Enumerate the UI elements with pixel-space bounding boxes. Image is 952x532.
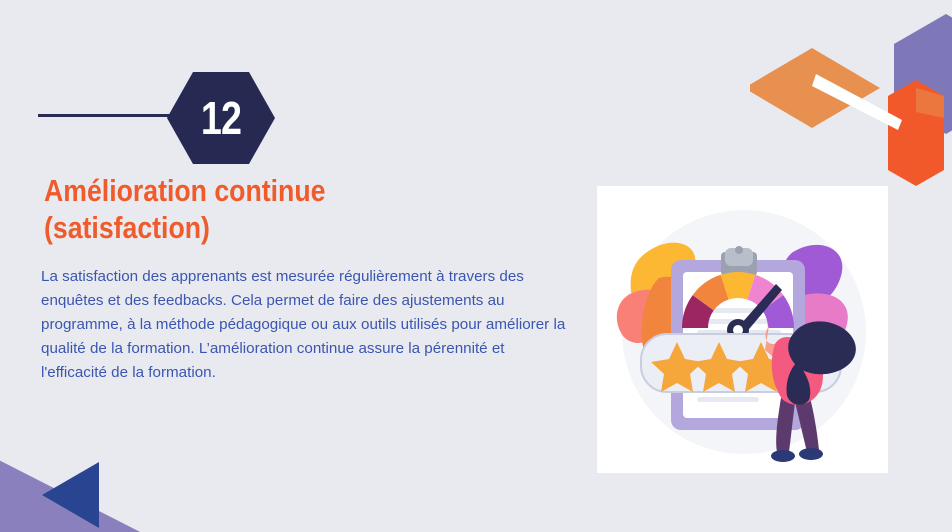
figure-shoe-right [799, 448, 823, 460]
step-number-badge: 12 [166, 70, 276, 166]
orange-rhombus-shape [750, 48, 880, 128]
page-title: Amélioration continue (satisfaction) [44, 172, 491, 246]
bottom-left-navy-triangle [42, 462, 99, 528]
hexagon-overlap-tint [916, 88, 944, 118]
badge-lead-line [38, 114, 186, 117]
top-right-shape-cluster [750, 0, 952, 200]
step-number-text: 12 [176, 70, 266, 166]
purple-hexagon-shape [894, 14, 952, 134]
figure-shoe-left [771, 450, 795, 462]
slide-canvas: 12 Amélioration continue (satisfaction) … [0, 0, 952, 532]
clipboard-clip [721, 246, 757, 276]
white-diagonal-bar [812, 74, 902, 130]
bottom-left-purple-band [0, 430, 234, 532]
body-paragraph: La satisfaction des apprenants est mesur… [41, 265, 571, 385]
illustration-panel [597, 186, 888, 473]
orange-hexagon-shape [888, 80, 944, 186]
